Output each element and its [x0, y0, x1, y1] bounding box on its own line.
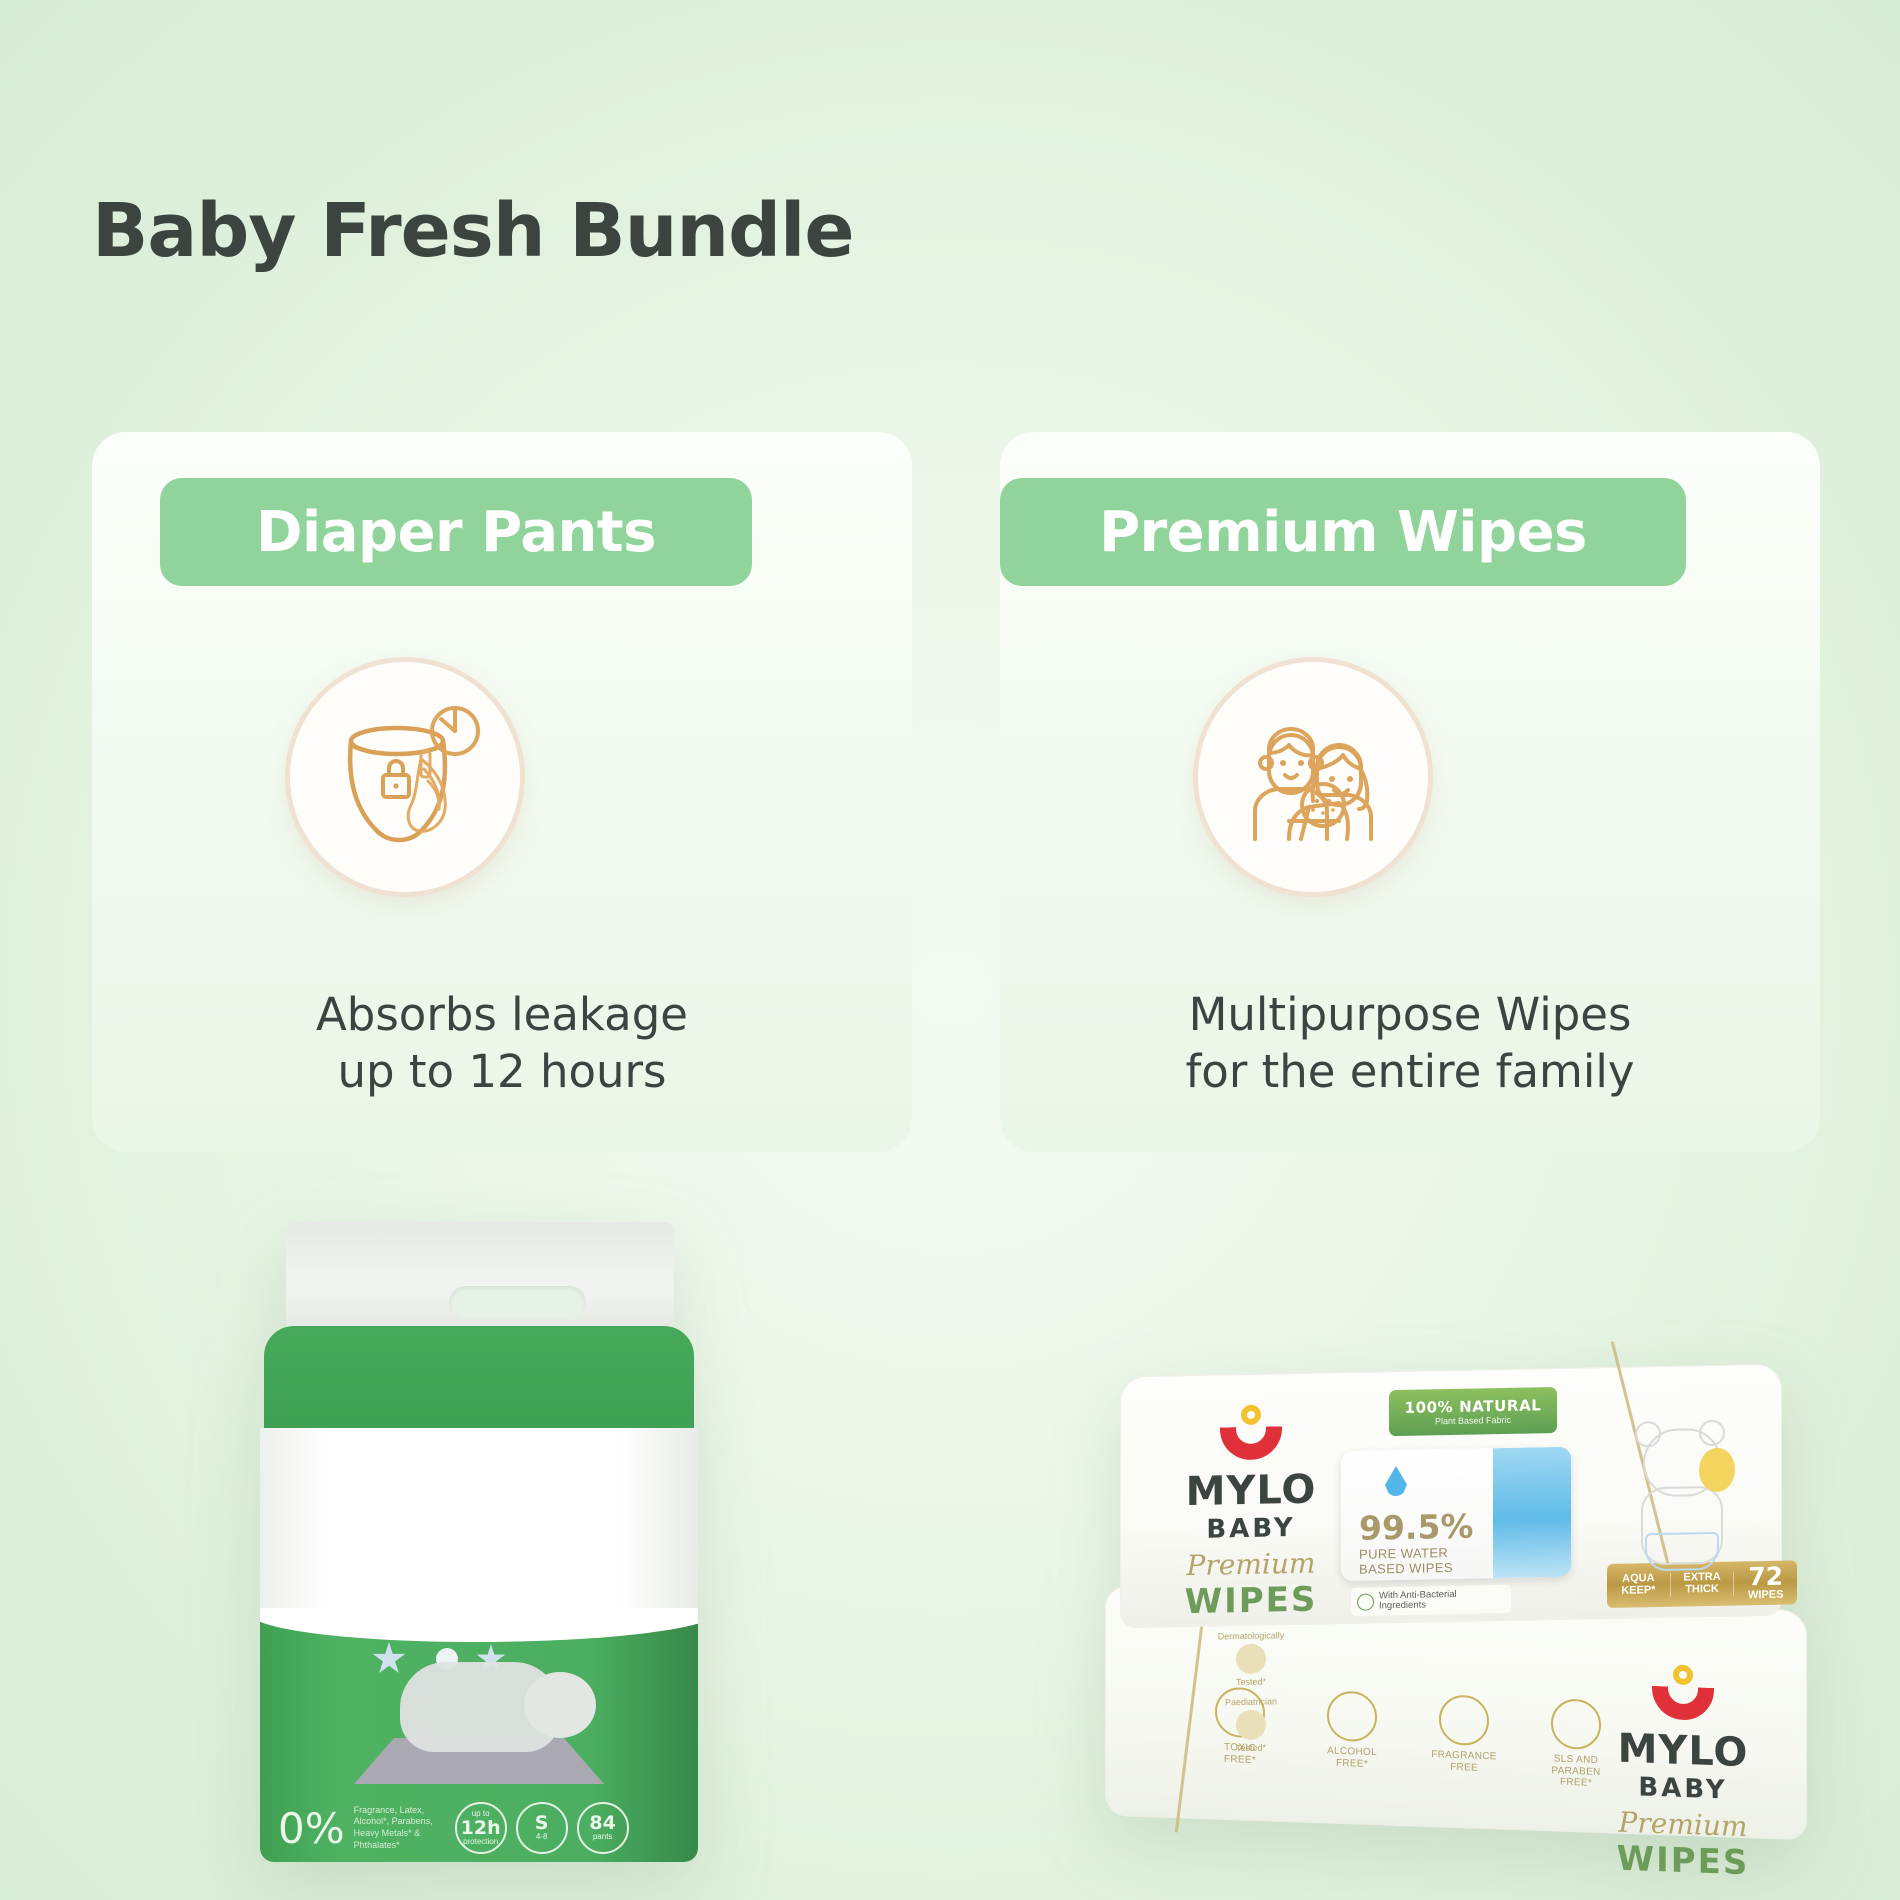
seal-bottom-label: Tested*: [1203, 1742, 1299, 1754]
size-badge-weight: 4-8: [536, 1833, 548, 1842]
antibacterial-icon: [1357, 1593, 1374, 1610]
mylo-baby-logo: MYLO BABY Premium WIPES Dermatologically…: [1161, 1403, 1341, 1754]
hours-badge-sub: protection: [463, 1838, 498, 1847]
water-graphic: [1493, 1447, 1571, 1578]
wipes-count-value: 72: [1748, 1562, 1783, 1592]
hours-protection-badge: up to 12h protection: [455, 1802, 507, 1854]
claim-line2: FREE*: [1202, 1753, 1278, 1767]
star-icon: [372, 1642, 406, 1676]
pack-bottom-badges: 0% Fragrance, Latex, Alcohol*, Parabens,…: [278, 1798, 686, 1858]
natural-badge-sub: Plant Based Fabric: [1435, 1415, 1511, 1426]
pack-bear-illustration: [328, 1642, 628, 1792]
natural-badge-title: 100% NATURAL: [1405, 1396, 1542, 1417]
pack-top-seal: [286, 1222, 674, 1338]
logo-dot-icon: [1241, 1405, 1261, 1425]
diaper-pants-pack-image: MYLO BABY DIAPER PANTS DERMATOLOGICALLY …: [248, 1222, 708, 1862]
feature-caption-diaper: Absorbs leakage up to 12 hours: [92, 987, 912, 1100]
logo-wipes-word: WIPES: [1598, 1838, 1768, 1884]
natural-badge: 100% NATURAL Plant Based Fabric: [1389, 1387, 1557, 1436]
baby-icon: [1236, 1710, 1266, 1741]
hours-badge-value: 12h: [461, 1819, 501, 1838]
logo-wipes-word: WIPES: [1161, 1579, 1341, 1622]
antibacterial-badge: With Anti-Bacterial Ingredients: [1351, 1585, 1511, 1616]
claim-line2: FREE*: [1314, 1757, 1390, 1771]
logo-brand-word: MYLO: [1161, 1466, 1341, 1515]
size-badge: S 4-8: [516, 1802, 568, 1854]
feature-caption-line1: Absorbs leakage: [92, 987, 912, 1044]
antibacterial-label: With Anti-Bacterial Ingredients: [1379, 1589, 1457, 1611]
card-badge-premium-wipes: Premium Wipes: [1000, 478, 1686, 586]
zero-percent-value: 0%: [278, 1804, 345, 1853]
wipes-seal: Paediatrician Tested*: [1203, 1696, 1299, 1754]
count-badge-value: 84: [589, 1814, 615, 1833]
size-badge-value: S: [535, 1814, 549, 1833]
seal-top-label: Paediatrician: [1203, 1696, 1299, 1708]
water-drop-icon: [1385, 1466, 1407, 1496]
wipes-count-badge: 72 WIPES: [1734, 1563, 1797, 1602]
pack-wave-divider: [260, 1608, 698, 1642]
family-icon: [1198, 662, 1428, 892]
wipes-seal: Dermatologically Tested*: [1203, 1630, 1299, 1688]
mylo-baby-logo: MYLO BABY Premium WIPES: [1598, 1662, 1768, 1884]
page-title: Baby Fresh Bundle: [92, 188, 854, 274]
extra-thick-line2: THICK: [1685, 1583, 1719, 1596]
bear-diaper: [1645, 1532, 1719, 1571]
pack-handle: [449, 1286, 586, 1319]
zero-percent-claims: Fragrance, Latex, Alcohol*, Parabens, He…: [354, 1805, 446, 1852]
fragrance-free-icon: [1439, 1694, 1489, 1746]
card-badge-label: Diaper Pants: [256, 500, 656, 565]
feature-caption-wipes: Multipurpose Wipes for the entire family: [1000, 987, 1820, 1100]
wipes-lid: 99.5% PURE WATER BASED WIPES: [1341, 1447, 1571, 1581]
wipes-count-unit: WIPES: [1748, 1589, 1783, 1602]
feature-caption-line2: for the entire family: [1000, 1044, 1820, 1101]
feature-caption-line1: Multipurpose Wipes: [1000, 987, 1820, 1044]
purity-stat: 99.5% PURE WATER BASED WIPES: [1359, 1507, 1474, 1578]
logo-premium-word: Premium: [1161, 1546, 1341, 1582]
promo-canvas: Baby Fresh Bundle Diaper Pants: [0, 0, 1900, 1900]
bear-head: [524, 1672, 596, 1738]
logo-smile-icon: [1652, 1686, 1714, 1721]
purity-value: 99.5%: [1359, 1507, 1474, 1548]
balloon-icon: [1699, 1448, 1735, 1493]
seal-bottom-label: Tested*: [1203, 1676, 1299, 1688]
card-badge-diaper-pants: Diaper Pants: [160, 478, 752, 586]
logo-brand-sub: BABY: [1161, 1512, 1341, 1545]
logo-brand-word: MYLO: [1598, 1725, 1768, 1777]
antibacterial-line2: Ingredients: [1379, 1599, 1426, 1611]
logo-brand-sub: BABY: [1598, 1771, 1768, 1807]
card-badge-label: Premium Wipes: [1099, 500, 1587, 565]
count-badge: 84 pants: [577, 1802, 629, 1854]
seal-top-label: Dermatologically: [1203, 1630, 1299, 1642]
purity-line2: BASED WIPES: [1359, 1561, 1474, 1578]
wipes-pack-top: MYLO BABY Premium WIPES Dermatologically…: [1120, 1364, 1782, 1629]
logo-smile-icon: [1220, 1426, 1282, 1460]
paraben-free-icon: [1551, 1698, 1601, 1750]
pack-white-band: MYLO BABY DIAPER PANTS DERMATOLOGICALLY …: [260, 1428, 698, 1628]
wipes-claim: FRAGRANCE FREE: [1426, 1694, 1502, 1786]
wipes-claim-label: FRAGRANCE FREE: [1426, 1749, 1502, 1775]
bear-illustration: [1619, 1427, 1739, 1579]
diaper-pants-icon: [290, 662, 520, 892]
premium-wipes-pack-image: TOXIC FREE* ALCOHOL FREE* FRAGRANCE FR: [1105, 1370, 1825, 1870]
logo-dot-icon: [1673, 1665, 1693, 1686]
feature-caption-line2: up to 12 hours: [92, 1044, 912, 1101]
leaf-hand-icon: [1236, 1644, 1266, 1675]
count-badge-unit: pants: [593, 1833, 613, 1842]
product-card-diaper-pants: Diaper Pants: [92, 432, 912, 1152]
product-card-premium-wipes: Premium Wipes: [1000, 432, 1820, 1152]
